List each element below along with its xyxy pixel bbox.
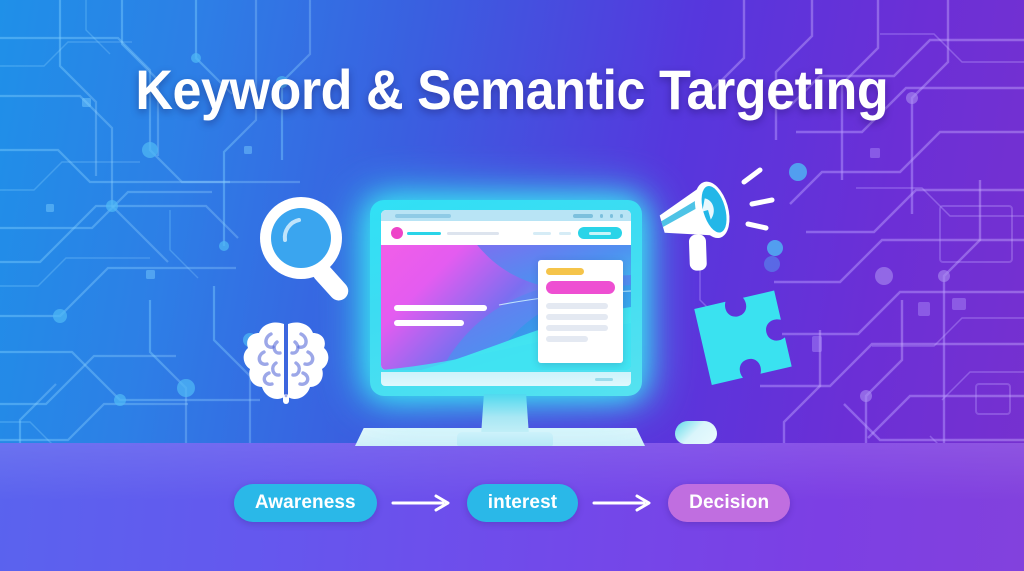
megaphone-handle xyxy=(689,234,707,271)
brain-left-hemisphere xyxy=(244,322,284,399)
address-bar[interactable] xyxy=(395,214,451,218)
funnel-step-label: Decision xyxy=(689,492,769,514)
funnel-step-decision[interactable]: Decision xyxy=(668,484,790,522)
window-close-icon[interactable] xyxy=(620,214,624,218)
card-title-bar xyxy=(546,281,615,294)
chrome-tab xyxy=(573,214,593,218)
funnel-steps: Awareness interest Decision xyxy=(0,484,1024,522)
nav-link[interactable] xyxy=(559,232,571,236)
monitor-chin xyxy=(381,372,631,386)
arrow-right-icon xyxy=(592,494,654,512)
brain-right-hemisphere xyxy=(288,322,328,399)
card-text-line xyxy=(546,303,608,309)
desktop-computer xyxy=(345,188,665,456)
hero-banner xyxy=(381,245,631,370)
monitor-bezel xyxy=(370,200,642,396)
card-text-line xyxy=(546,336,588,342)
monitor-indicator xyxy=(595,378,613,381)
circuit-node xyxy=(860,92,950,402)
funnel-step-interest[interactable]: interest xyxy=(467,484,578,522)
hero-subline-bar xyxy=(394,320,464,326)
card-text-line xyxy=(546,325,608,331)
magnifier-lens xyxy=(271,208,331,268)
infographic-banner: Keyword & Semantic Targeting xyxy=(0,0,1024,571)
nav-link[interactable] xyxy=(533,232,551,236)
arrow-right-icon xyxy=(391,494,453,512)
brain-icon xyxy=(242,318,330,408)
content-card[interactable] xyxy=(538,260,623,363)
puzzle-shape xyxy=(694,291,791,385)
title-container: Keyword & Semantic Targeting xyxy=(0,62,1024,118)
nav-link[interactable] xyxy=(407,232,441,236)
funnel-step-awareness[interactable]: Awareness xyxy=(234,484,377,522)
mouse[interactable] xyxy=(675,421,717,444)
card-text-line xyxy=(546,314,608,320)
funnel-step-label: Awareness xyxy=(255,492,356,514)
browser-chrome xyxy=(381,210,631,221)
site-logo xyxy=(391,227,403,239)
megaphone-icon xyxy=(652,160,780,272)
monitor-stand-base xyxy=(457,432,553,446)
monitor-stand-neck xyxy=(481,394,529,436)
window-minimize-icon[interactable] xyxy=(600,214,604,218)
puzzle-piece-icon xyxy=(686,283,798,393)
funnel-step-label: interest xyxy=(488,492,557,514)
cta-button[interactable] xyxy=(578,227,622,239)
monitor-screen[interactable] xyxy=(381,210,631,370)
page-title: Keyword & Semantic Targeting xyxy=(136,62,889,118)
magnifying-glass-icon xyxy=(255,192,363,304)
hero-headline-bar xyxy=(394,305,487,311)
website-navbar xyxy=(381,221,631,245)
window-maximize-icon[interactable] xyxy=(610,214,614,218)
card-tag-bar xyxy=(546,268,584,275)
megaphone-sound-waves xyxy=(744,170,772,228)
cta-label xyxy=(589,232,611,235)
nav-link[interactable] xyxy=(447,232,499,236)
